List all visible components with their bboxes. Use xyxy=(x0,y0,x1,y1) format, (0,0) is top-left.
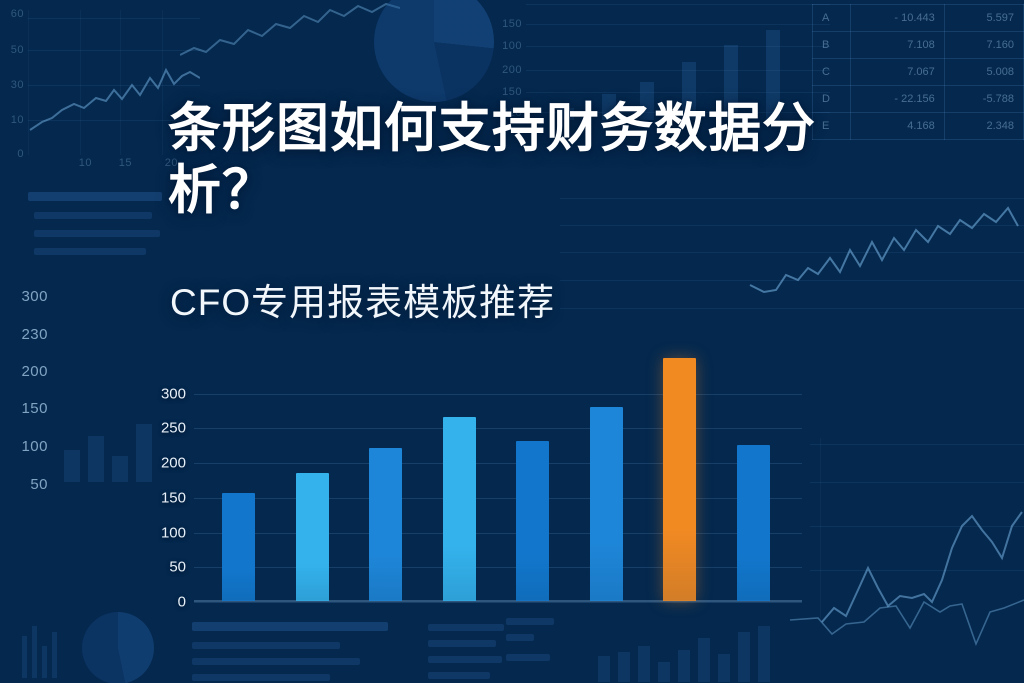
bg-line-chart-top-extend xyxy=(180,0,400,70)
left-axis-tick: 230 xyxy=(0,326,48,343)
bg-document-lines-bottom-right xyxy=(428,624,506,682)
chart-gridline xyxy=(194,567,802,568)
table-cell-value: -5.788 xyxy=(944,86,1023,113)
bg-axis-label: 100 xyxy=(500,40,522,52)
bg-document-lines-bottom-left2 xyxy=(506,618,558,668)
chart-y-axis-label: 300 xyxy=(152,385,186,402)
table-cell-value: 2.348 xyxy=(944,113,1023,140)
table-cell-value: 4.168 xyxy=(851,113,945,140)
chart-bar[interactable] xyxy=(663,358,696,601)
chart-gridline xyxy=(194,428,802,429)
left-secondary-axis: 300 230 200 150 100 50 xyxy=(0,280,64,500)
chart-gridline xyxy=(194,533,802,534)
table-cell-value: 5.597 xyxy=(944,5,1023,32)
chart-gridline xyxy=(194,498,802,499)
table-cell-key: A xyxy=(813,5,851,32)
bg-document-lines-topleft xyxy=(28,192,168,262)
table-cell-value: 7.108 xyxy=(851,32,945,59)
table-cell-value: 7.160 xyxy=(944,32,1023,59)
bg-axis-label: 30 xyxy=(2,79,24,91)
left-axis-tick: 150 xyxy=(0,400,48,417)
page-subtitle: CFO专用报表模板推荐 xyxy=(170,272,555,326)
chart-bar[interactable] xyxy=(516,441,549,601)
chart-bar[interactable] xyxy=(296,473,329,601)
left-axis-tick: 200 xyxy=(0,363,48,380)
table-row: A - 10.443 5.597 xyxy=(813,5,1024,32)
bg-bottom-pie-chart xyxy=(82,612,154,683)
bg-line-chart-bottom-right xyxy=(790,598,1024,658)
table-row: C 7.067 5.008 xyxy=(813,59,1024,86)
chart-y-axis-label: 250 xyxy=(152,420,186,437)
table-cell-key: C xyxy=(813,59,851,86)
chart-baseline xyxy=(194,600,802,602)
bg-axis-label: 60 xyxy=(2,8,24,20)
bg-axis-label: 50 xyxy=(2,44,24,56)
chart-bar[interactable] xyxy=(443,417,476,601)
chart-bar[interactable] xyxy=(222,493,255,601)
infographic-canvas: 60 50 30 10 0 10 15 20 150 100 200 150 1… xyxy=(0,0,1024,683)
bg-pie-chart-top xyxy=(374,0,494,102)
bg-axis-label: 150 xyxy=(500,18,522,30)
chart-y-axis-label: 50 xyxy=(152,559,186,576)
page-title: 条形图如何支持财务数据分析？ xyxy=(168,98,848,222)
table-cell-value: 5.008 xyxy=(944,59,1023,86)
chart-y-axis-label: 200 xyxy=(152,455,186,472)
table-cell-value: - 10.443 xyxy=(851,5,945,32)
table-cell-value: - 22.156 xyxy=(851,86,945,113)
table-cell-value: 7.067 xyxy=(851,59,945,86)
table-row: B 7.108 7.160 xyxy=(813,32,1024,59)
left-axis-tick: 300 xyxy=(0,288,48,305)
chart-gridline xyxy=(194,463,802,464)
bg-bottom-mini-bars xyxy=(22,620,64,678)
chart-y-axis-label: 150 xyxy=(152,489,186,506)
chart-y-axis-label: 100 xyxy=(152,524,186,541)
chart-gridline xyxy=(194,602,802,603)
bg-axis-label: 0 xyxy=(2,148,24,160)
left-axis-tick: 100 xyxy=(0,438,48,455)
chart-gridline xyxy=(194,394,802,395)
chart-bar[interactable] xyxy=(590,407,623,601)
bg-axis-label: 200 xyxy=(500,64,522,76)
bg-axis-label: 150 xyxy=(500,86,522,98)
chart-y-axis-label: 0 xyxy=(152,594,186,611)
bg-document-lines-bottom-center xyxy=(192,622,392,682)
bg-bar-chart-bottom-center xyxy=(598,618,780,682)
main-bar-chart: 050100150200250300 xyxy=(152,352,792,602)
bg-axis-label: 10 xyxy=(2,114,24,126)
chart-bar[interactable] xyxy=(737,445,770,601)
bg-axis-label: 15 xyxy=(110,157,132,169)
chart-bar[interactable] xyxy=(369,448,402,601)
left-axis-tick: 50 xyxy=(0,476,48,493)
bg-axis-label: 10 xyxy=(70,157,92,169)
bg-line-chart-right-lower xyxy=(790,430,1024,630)
table-cell-key: B xyxy=(813,32,851,59)
